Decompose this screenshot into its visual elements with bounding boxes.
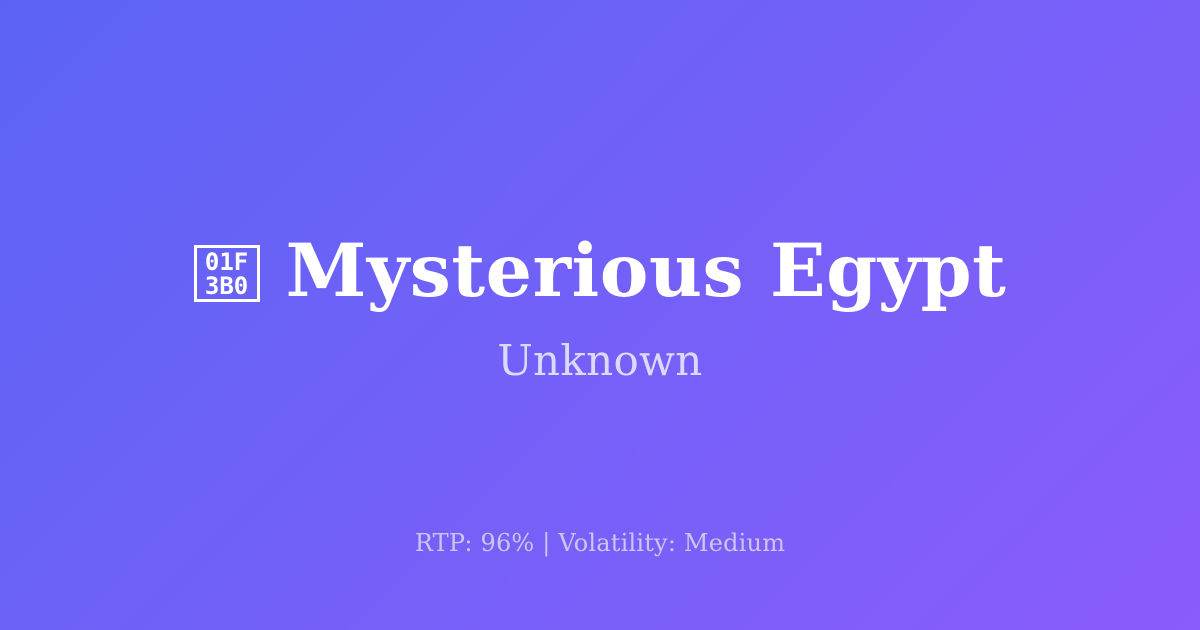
stats-block: RTP: 96% | Volatility: Medium [0, 528, 1200, 558]
page-title: Mysterious Egypt [286, 228, 1007, 314]
slot-machine-icon-codepoint-low: 3B0 [205, 274, 248, 298]
hero-block: 01F 3B0 Mysterious Egypt Unknown [0, 228, 1200, 386]
slot-machine-icon: 01F 3B0 [194, 245, 260, 302]
og-share-card: 01F 3B0 Mysterious Egypt Unknown RTP: 96… [0, 0, 1200, 630]
slot-machine-icon-codepoint-high: 01F [205, 250, 248, 274]
provider-name: Unknown [497, 336, 702, 386]
title-row: 01F 3B0 Mysterious Egypt [194, 228, 1007, 314]
rtp-volatility-line: RTP: 96% | Volatility: Medium [415, 529, 785, 557]
